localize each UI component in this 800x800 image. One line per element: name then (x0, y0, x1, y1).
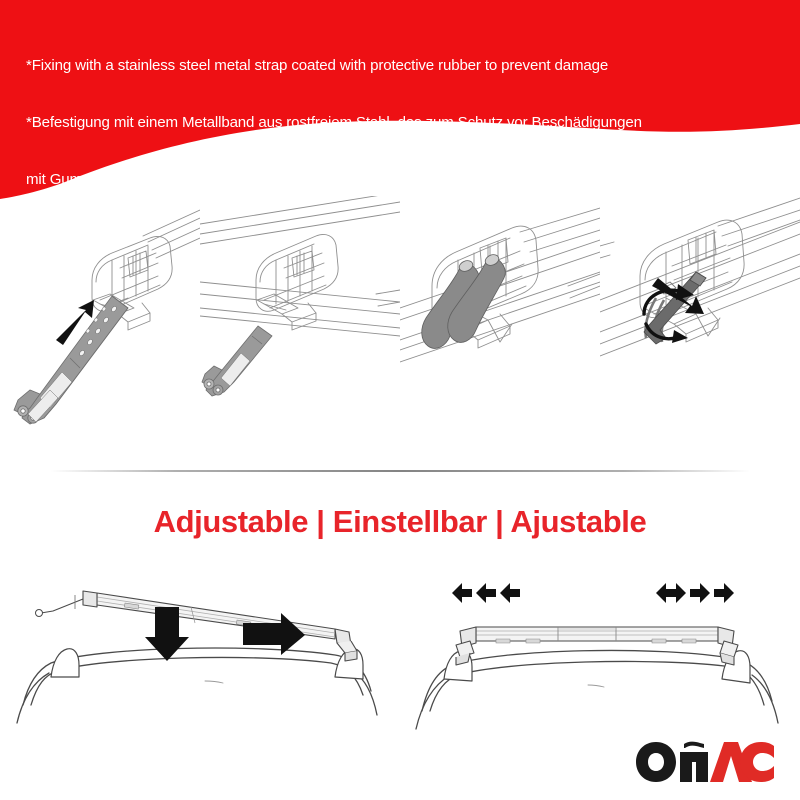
crossbar (36, 591, 358, 661)
infographic-page: *Fixing with a stainless steel metal str… (0, 0, 800, 800)
banner-line-de-1: *Befestigung mit einem Metallband aus ro… (26, 113, 778, 132)
metal-strap (14, 296, 128, 424)
banner-line-en: *Fixing with a stainless steel metal str… (26, 56, 778, 75)
section-divider (50, 470, 750, 472)
installation-steps (0, 196, 800, 448)
omac-logo (634, 738, 776, 784)
adjustability-figures (0, 565, 800, 735)
step-2-position-strap (200, 196, 400, 448)
step-3-illustration (400, 196, 600, 448)
step-4-illustration (600, 196, 800, 448)
banner-description: *Fixing with a stainless steel metal str… (26, 18, 778, 210)
metal-strap (202, 326, 272, 396)
figure-crossbar-placement (5, 565, 405, 735)
step-1-illustration (0, 196, 200, 448)
banner-line-de-2: mit Gummi überzogen ist (26, 170, 778, 189)
step-4-tighten (600, 196, 800, 448)
step-1-insert-strap (0, 196, 200, 448)
figure-crossbar-width-adjust (400, 565, 800, 735)
step-2-illustration (200, 196, 400, 448)
triple-left-arrows (452, 583, 520, 603)
adjustable-heading: Adjustable | Einstellbar | Ajustable (0, 503, 800, 541)
crossbar (456, 627, 738, 665)
car-right-illustration (400, 565, 800, 735)
header-banner: *Fixing with a stainless steel metal str… (0, 0, 800, 210)
logo-tilde-icon (684, 742, 704, 748)
logo-letter-o (636, 742, 676, 782)
logo-letter-m (680, 752, 708, 782)
step-3-loop-strap (400, 196, 600, 448)
car-left-illustration (5, 565, 405, 735)
omac-logo-mark (634, 738, 776, 784)
triple-right-arrows (656, 583, 734, 603)
